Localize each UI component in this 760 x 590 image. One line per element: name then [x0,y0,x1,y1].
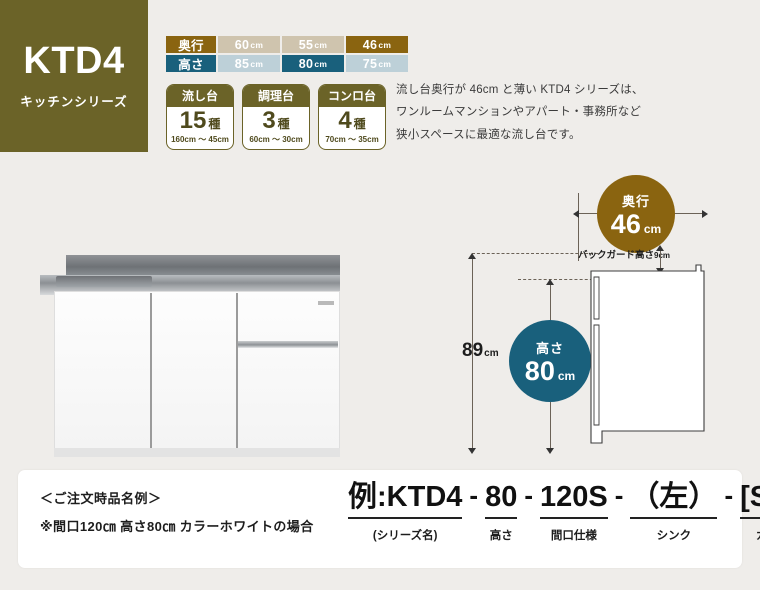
code-separator-3: - [608,478,631,513]
height-option-85-value: 85 [235,57,250,71]
cabinet-height-extension-top [518,279,598,280]
category-box-sink[interactable]: 流し台 15 種 160cm 〜 45cm [166,84,234,150]
code-separator-1: - [462,478,485,513]
depth-badge-unit: cm [644,222,661,236]
category-sink-count: 15 [180,109,207,133]
code-color-underline [740,517,760,519]
depth-arrow-left-icon [573,210,579,218]
category-prep-unit: 種 [278,115,290,132]
code-height-value: 80 [485,478,517,517]
code-separator-4: - [717,478,740,513]
code-sink-underline [630,517,717,519]
product-code-breakdown: 例:KTD4 (シリーズ名) - 80 高さ - 120S 間口仕様 - （左）… [348,478,760,543]
height-option-80-unit: cm [314,59,327,69]
cabinet-side-view-drawing [588,255,710,455]
code-prefix: 例: [348,481,387,513]
height-option-85[interactable]: 85cm [218,55,280,72]
total-height-arrow-down-icon [468,448,476,454]
category-stove-title: コンロ台 [319,85,385,107]
category-stove-count: 4 [338,109,351,133]
height-option-80-value: 80 [299,57,314,71]
height-option-75-unit: cm [378,59,391,69]
height-row-label: 高さ [166,55,216,72]
category-prep-count-group: 3 種 [262,107,289,133]
category-stove-range: 70cm 〜 35cm [325,133,378,149]
order-example-title: ＜ご注文時品名例＞ [40,488,314,507]
height-row: 高さ 85cm 80cm 75cm [166,55,408,72]
description-line-2: ワンルームマンションやアパート・事務所など [396,101,676,123]
order-example-text-group: ＜ご注文時品名例＞ ※間口120㎝ 高さ80㎝ カラーホワイトの場合 [40,488,314,535]
code-segment-series: 例:KTD4 (シリーズ名) [348,478,462,543]
category-sink-title: 流し台 [167,85,233,107]
category-stove-count-group: 4 種 [338,107,365,133]
code-segment-color: [SW] カラー [740,478,760,543]
cabinet-body [54,291,340,451]
height-badge-value: 80 [525,358,555,385]
cabinet-door-seam-1 [150,293,152,449]
code-width-caption: 間口仕様 [551,527,597,543]
cabinet-height-arrow-down-icon [546,448,554,454]
series-name: KTD4 [23,42,124,80]
code-separator-2: - [517,478,540,513]
category-sink-count-group: 15 種 [180,107,221,133]
depth-badge-value: 46 [611,211,641,238]
total-height-unit: cm [484,348,498,359]
code-segment-width: 120S 間口仕様 [540,478,608,543]
depth-option-55-value: 55 [299,38,314,52]
code-sink-caption: シンク [657,527,692,543]
code-segment-sink: （左） シンク [630,478,717,543]
height-option-75[interactable]: 75cm [346,55,408,72]
category-prep-count: 3 [262,109,275,133]
depth-option-60-unit: cm [250,40,263,50]
cabinet-door-seam-2 [236,293,238,449]
depth-option-55-unit: cm [314,40,327,50]
code-series-text: KTD4 [387,481,463,513]
code-height-underline [485,517,517,519]
dimension-spec-table: 奥行 60cm 55cm 46cm 高さ 85cm 80cm 75cm [166,36,408,72]
height-badge: 高さ 80 cm [509,320,591,402]
category-prep-range: 60cm 〜 30cm [249,133,302,149]
depth-arrow-right-icon [702,210,708,218]
code-series-underline [348,517,462,519]
dimension-diagram: 奥行 46 cm 89cm 高さ 80 cm バックガー [460,165,750,465]
depth-row: 奥行 60cm 55cm 46cm [166,36,408,53]
series-title-block: KTD4 キッチンシリーズ [0,0,148,152]
code-width-underline [540,517,608,519]
code-sink-value: （左） [630,478,717,517]
product-photo [40,255,340,460]
code-series-value: 例:KTD4 [348,478,462,517]
description-line-3: 狭小スペースに最適な流し台です。 [396,124,676,146]
category-box-stove[interactable]: コンロ台 4 種 70cm 〜 35cm [318,84,386,150]
depth-option-46-unit: cm [378,40,391,50]
series-description: 流し台奥行が 46cm と薄い KTD4 シリーズは、 ワンルームマンションやア… [396,79,676,146]
category-prep-title: 調理台 [243,85,309,107]
cabinet-drawer-handle [238,341,338,348]
cabinet-toe-kick [54,448,340,457]
cabinet-height-arrow-up-icon [546,279,554,285]
depth-option-60-value: 60 [235,38,250,52]
code-series-caption: (シリーズ名) [373,527,438,543]
total-height-value: 89 [462,340,483,361]
depth-option-60[interactable]: 60cm [218,36,280,53]
total-height-label: 89cm [462,340,499,362]
depth-option-55[interactable]: 55cm [282,36,344,53]
order-example-note: ※間口120㎝ 高さ80㎝ カラーホワイトの場合 [40,516,314,535]
depth-option-46-selected[interactable]: 46cm [346,36,408,53]
height-option-75-value: 75 [363,57,378,71]
depth-badge-value-group: 46 cm [611,211,661,238]
product-spec-page: KTD4 キッチンシリーズ 奥行 60cm 55cm 46cm 高さ 85cm … [0,0,760,590]
code-width-value: 120S [540,478,608,517]
category-stove-unit: 種 [354,115,366,132]
code-height-caption: 高さ [490,527,513,543]
brand-logo-tag [318,301,334,305]
category-sink-unit: 種 [208,115,220,132]
order-example-card: ＜ご注文時品名例＞ ※間口120㎝ 高さ80㎝ カラーホワイトの場合 例:KTD… [18,470,742,568]
backguard-arrow-up-icon [656,245,664,251]
code-color-caption: カラー [756,527,760,543]
depth-option-46-value: 46 [363,38,378,52]
height-option-85-unit: cm [250,59,263,69]
depth-badge: 奥行 46 cm [597,175,675,253]
depth-row-label: 奥行 [166,36,216,53]
category-box-row: 流し台 15 種 160cm 〜 45cm 調理台 3 種 60cm 〜 30c… [166,84,386,150]
height-badge-label: 高さ [536,338,564,357]
height-badge-value-group: 80 cm [525,358,575,385]
height-badge-unit: cm [558,369,575,383]
category-box-prep[interactable]: 調理台 3 種 60cm 〜 30cm [242,84,310,150]
series-subtitle: キッチンシリーズ [20,91,127,110]
depth-badge-label: 奥行 [622,191,650,210]
code-color-value: [SW] [740,478,760,517]
height-option-80-selected[interactable]: 80cm [282,55,344,72]
total-height-arrow-up-icon [468,253,476,259]
description-line-1: 流し台奥行が 46cm と薄い KTD4 シリーズは、 [396,79,676,101]
category-sink-range: 160cm 〜 45cm [171,133,229,149]
sink-basin [56,276,152,287]
code-segment-height: 80 高さ [485,478,517,543]
